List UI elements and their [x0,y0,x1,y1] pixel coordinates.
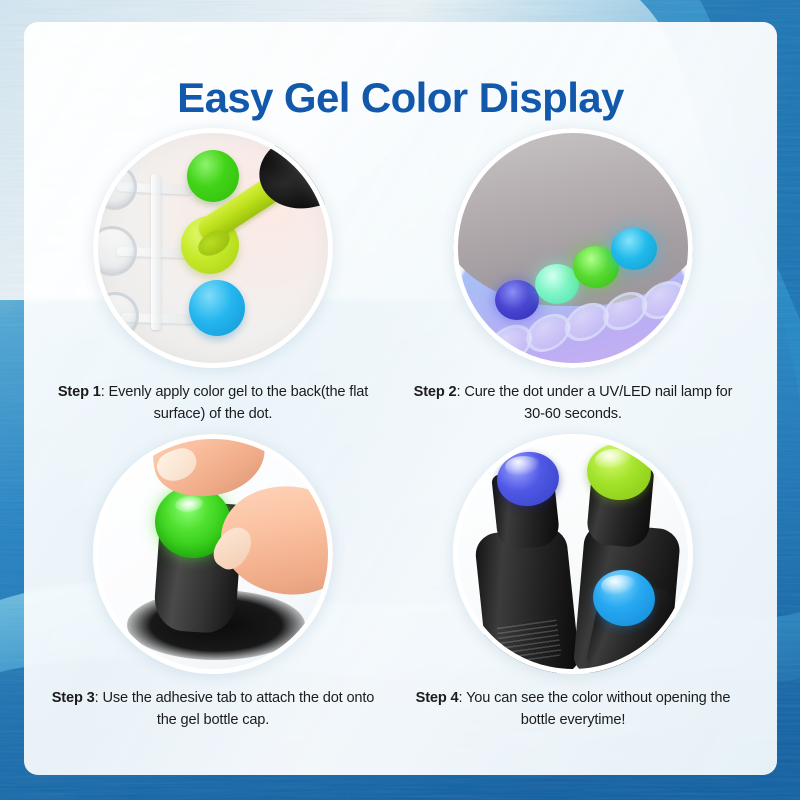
step-3-text: Use the adhesive tab to attach the dot o… [102,690,374,728]
step-card-2: Step 2: Cure the dot under a UV/LED nail… [400,128,746,426]
step-2-photo [453,128,693,368]
step-card-3: Step 3: Use the adhesive tab to attach t… [40,434,386,732]
step-1-photo [93,128,333,368]
dot-sheet-with-brush-image [93,128,333,368]
step-2-label: Step 2 [414,384,457,400]
photo-rim [93,128,333,368]
uv-led-lamp-curing-image [453,128,693,368]
content-card: Easy Gel Color Display [24,22,777,775]
photo-rim [453,128,693,368]
step-1-text: Evenly apply color gel to the back(the f… [109,384,369,422]
gel-bottles-with-dots-image [453,434,693,674]
step-4-caption: Step 4: You can see the color without op… [400,688,746,732]
step-2-caption: Step 2: Cure the dot under a UV/LED nail… [400,382,746,426]
photo-rim [453,434,693,674]
step-3-photo [93,434,333,674]
step-card-1: Step 1: Evenly apply color gel to the ba… [40,128,386,426]
step-4-photo [453,434,693,674]
step-4-separator: : [459,690,467,706]
step-4-label: Step 4 [416,690,459,706]
step-3-label: Step 3 [52,690,95,706]
step-3-caption: Step 3: Use the adhesive tab to attach t… [40,688,386,732]
page-title: Easy Gel Color Display [24,74,777,122]
step-1-separator: : [101,384,109,400]
step-4-text: You can see the color without opening th… [466,690,730,728]
step-1-caption: Step 1: Evenly apply color gel to the ba… [40,382,386,426]
photo-rim [93,434,333,674]
step-card-4: Step 4: You can see the color without op… [400,434,746,732]
finger-attaching-dot-image [93,434,333,674]
step-2-text: Cure the dot under a UV/LED nail lamp fo… [464,384,732,422]
step-1-label: Step 1 [58,384,101,400]
